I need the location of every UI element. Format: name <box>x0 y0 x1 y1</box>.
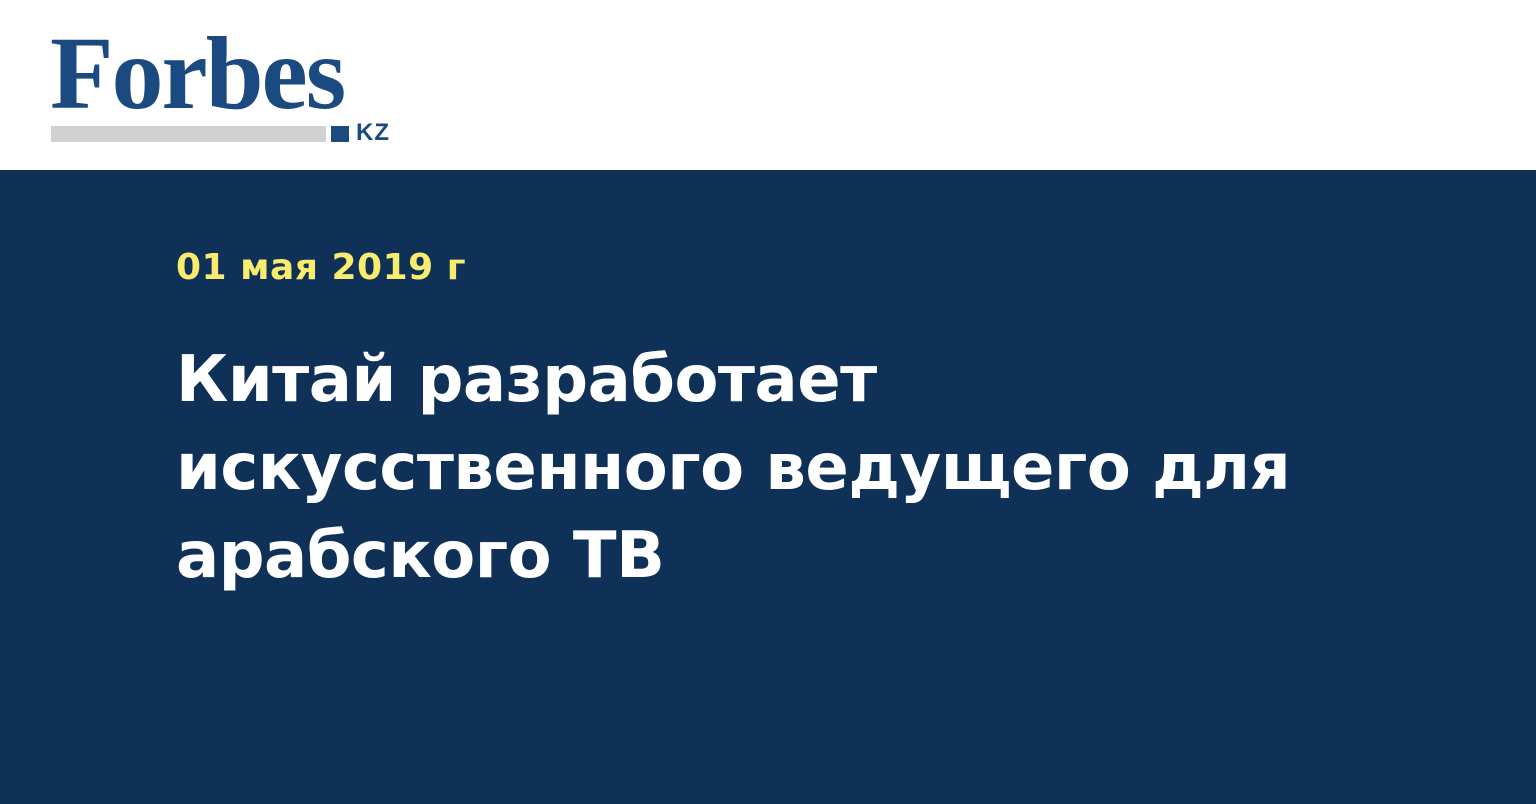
logo-square-icon <box>331 126 349 142</box>
hero-content: 01 мая 2019 г Китай разработает искусств… <box>176 170 1376 600</box>
title-line-2: искусственного ведущего для <box>176 424 1236 512</box>
logo-wordmark: Forbes <box>50 22 344 126</box>
title-line-3: арабского ТВ <box>176 512 1236 600</box>
forbes-kz-logo[interactable]: Forbes kz <box>50 22 410 147</box>
article-page: Forbes kz 01 мая 2019 г Китай разработае… <box>0 0 1536 804</box>
page-title: Китай разработает искусственного ведущег… <box>176 288 1236 600</box>
logo-suffix-kz: kz <box>356 121 390 145</box>
article-date: 01 мая 2019 г <box>176 170 1376 288</box>
title-line-1: Китай разработает <box>176 336 1236 424</box>
article-hero: 01 мая 2019 г Китай разработает искусств… <box>0 170 1536 804</box>
logo-rule <box>51 126 326 142</box>
site-header: Forbes kz <box>0 0 1536 170</box>
